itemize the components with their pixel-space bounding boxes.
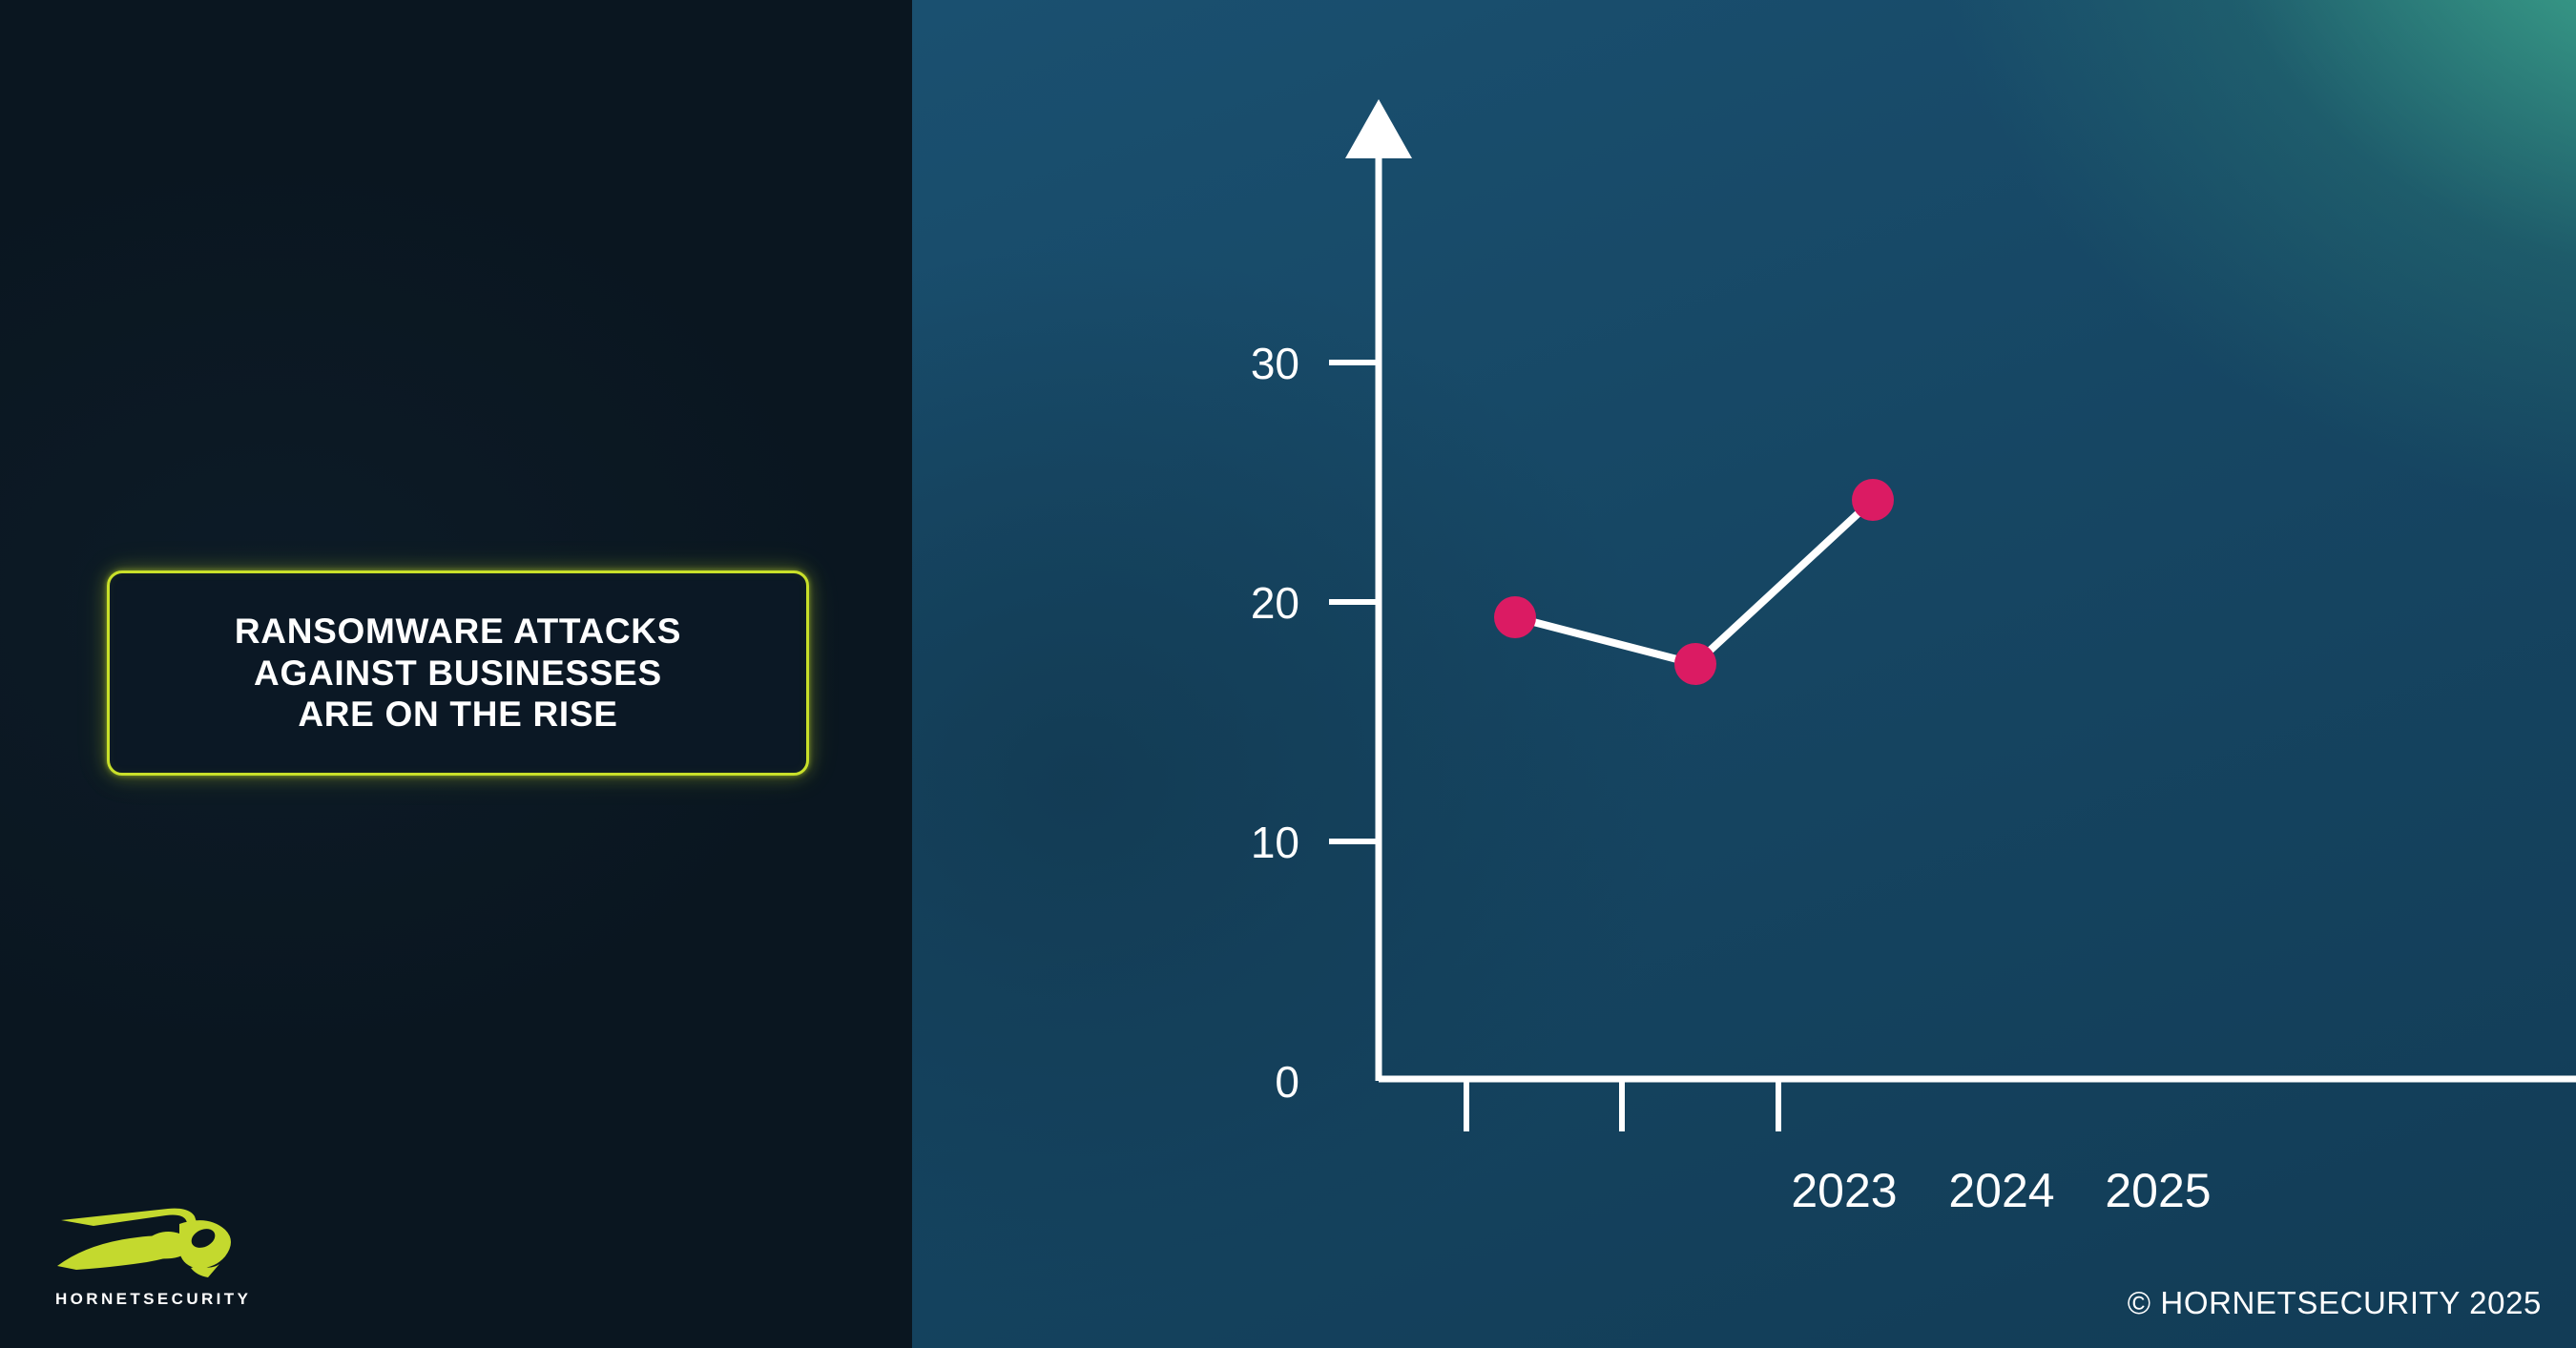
data-point-2024[interactable] [1674,643,1716,685]
y-tick-label-0: 0 [1275,1057,1299,1107]
headline-callout-box: RANSOMWARE ATTACKS AGAINST BUSINESSES AR… [107,570,809,776]
brand-logo: HORNETSECURITY [55,1186,284,1309]
data-point-2023[interactable] [1494,596,1536,638]
x-tick-label-2024: 2024 [1948,1164,2054,1217]
headline-line-1: RANSOMWARE ATTACKS [235,611,681,653]
line-chart: 30 20 10 0 2023 2024 2025 [912,0,2576,1348]
y-tick-label-20: 20 [1251,578,1299,628]
x-axis [1379,1047,2576,1110]
chart-panel: 30 20 10 0 2023 2024 2025 © HORNETSECURI… [912,0,2576,1348]
y-axis-arrowhead [1345,99,1412,158]
y-tick-label-30: 30 [1251,339,1299,388]
brand-wordmark: HORNETSECURITY [55,1290,284,1309]
copyright-notice: © HORNETSECURITY 2025 [2128,1285,2542,1321]
left-panel: RANSOMWARE ATTACKS AGAINST BUSINESSES AR… [0,0,912,1348]
headline-line-3: ARE ON THE RISE [298,694,617,736]
data-point-2025[interactable] [1852,479,1894,521]
data-line [1515,500,1873,664]
hornet-logo-icon [55,1186,246,1286]
infographic-canvas: RANSOMWARE ATTACKS AGAINST BUSINESSES AR… [0,0,2576,1348]
x-tick-label-2025: 2025 [2105,1164,2211,1217]
x-axis-ticks [1466,1079,1778,1131]
y-axis [1345,99,1412,1081]
x-tick-label-2023: 2023 [1791,1164,1897,1217]
y-tick-label-10: 10 [1251,818,1299,867]
headline-line-2: AGAINST BUSINESSES [254,653,662,695]
y-axis-ticks [1329,363,1379,841]
